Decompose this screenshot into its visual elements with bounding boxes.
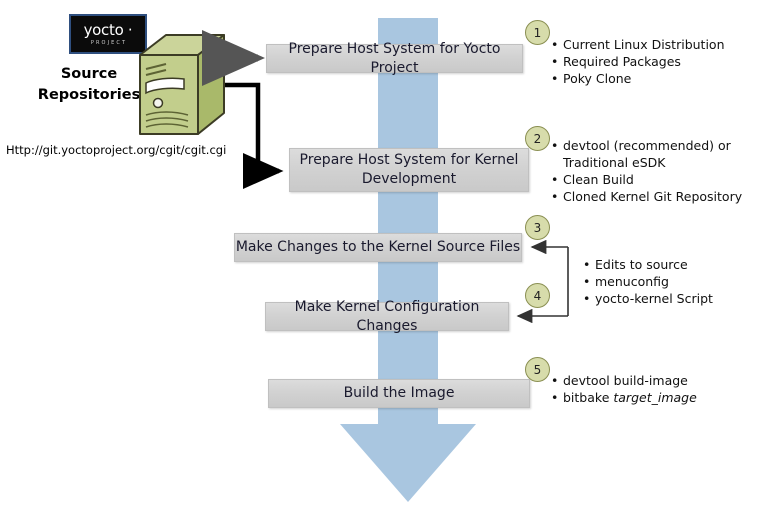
list-item: devtool build-image — [551, 372, 766, 389]
list-item: menuconfig — [583, 273, 768, 290]
bitbake-command: bitbake — [563, 390, 613, 405]
connector-source-to-step2 — [225, 85, 279, 171]
step-number-5: 5 — [525, 357, 550, 382]
list-item: Edits to source — [583, 256, 768, 273]
source-repository-url: Http://git.yoctoproject.org/cgit/cgit.cg… — [6, 143, 226, 157]
step-number-3: 3 — [525, 215, 550, 240]
step-number-4: 4 — [525, 283, 550, 308]
step-box-prepare-host-yocto[interactable]: Prepare Host System for Yocto Project — [266, 44, 523, 73]
list-item: Cloned Kernel Git Repository — [551, 188, 766, 205]
list-item: Clean Build — [551, 171, 766, 188]
step5-bullet-list: devtool build-image bitbake target_image — [551, 372, 766, 406]
server-icon — [136, 33, 228, 139]
source-label-line2: Repositories — [24, 85, 154, 106]
list-item: bitbake target_image — [551, 389, 766, 406]
step-box-make-kernel-source-changes[interactable]: Make Changes to the Kernel Source Files — [234, 233, 522, 262]
list-item: Current Linux Distribution — [551, 36, 766, 53]
logo-subtext: PROJECT — [89, 41, 127, 46]
step2-bullet-list: devtool (recommended) or Traditional eSD… — [551, 137, 766, 205]
source-label-line1: Source — [24, 64, 154, 85]
list-item: devtool (recommended) or Traditional eSD… — [551, 137, 766, 171]
step3-step4-bullet-list: Edits to source menuconfig yocto-kernel … — [583, 256, 768, 307]
diagram-canvas: yocto · PROJECT Source Repositories Http… — [0, 0, 769, 517]
list-item: Required Packages — [551, 53, 766, 70]
step-box-build-the-image[interactable]: Build the Image — [268, 379, 530, 408]
list-item: Poky Clone — [551, 70, 766, 87]
step1-bullet-list: Current Linux Distribution Required Pack… — [551, 36, 766, 87]
logo-wordmark: yocto · — [84, 23, 133, 38]
list-item: yocto-kernel Script — [583, 290, 768, 307]
bitbake-target-term: target_image — [613, 390, 696, 405]
step-box-prepare-host-kernel[interactable]: Prepare Host System for Kernel Developme… — [289, 148, 529, 192]
source-repositories-label: Source Repositories — [24, 64, 154, 106]
step-number-2: 2 — [525, 126, 550, 151]
step-box-make-kernel-config-changes[interactable]: Make Kernel Configuration Changes — [265, 302, 509, 331]
step-number-1: 1 — [525, 20, 550, 45]
